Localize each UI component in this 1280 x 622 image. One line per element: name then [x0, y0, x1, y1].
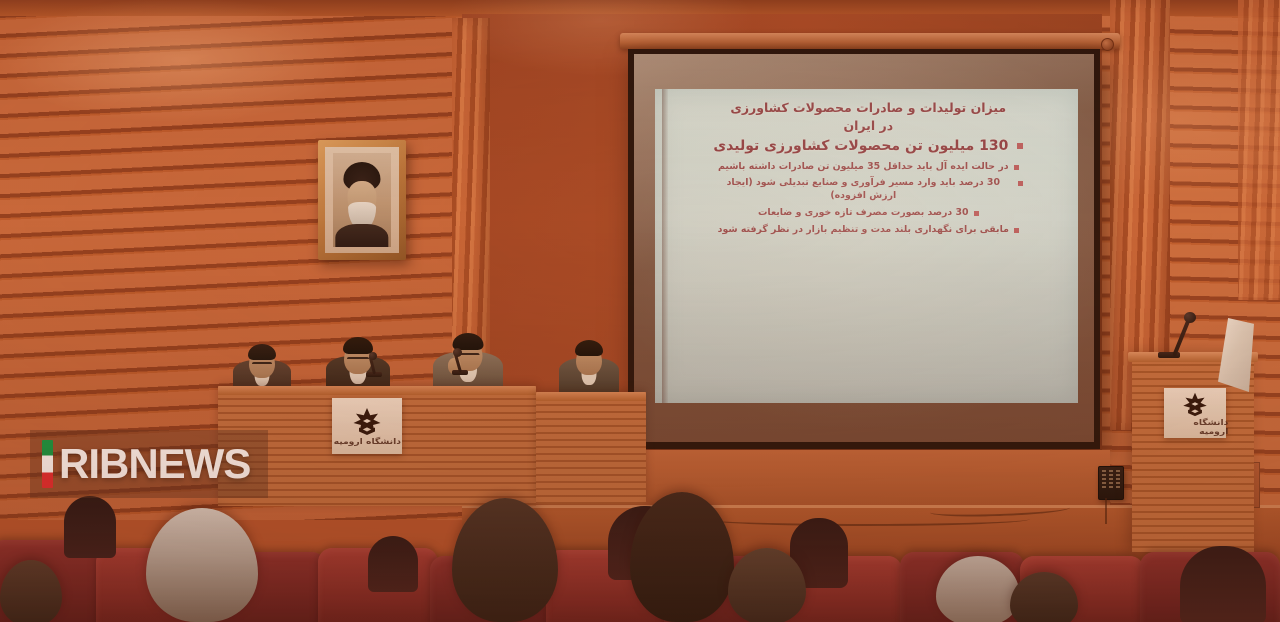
table-microphone-head: [369, 352, 377, 360]
portrait-photo: [333, 153, 391, 247]
framed-portrait: [318, 140, 406, 260]
bullet-square-icon: [974, 211, 979, 216]
audience-seat-back: [64, 496, 116, 558]
lectern-microphone-head: [1184, 312, 1196, 323]
slide-bullet-list: در حالت ایده آل باید حداقل 35 میلیون تن …: [673, 161, 1064, 236]
control-box-readout: [1102, 482, 1120, 484]
hair: [575, 340, 603, 356]
irib-news-watermark: RIBNEWS: [30, 430, 268, 498]
slide-bullet-text: 30 درصد بصورت مصرف تازه خوری و ضایعات: [758, 207, 969, 220]
presentation-slide: میزان تولیدات و صادرات محصولات کشاورزی د…: [655, 89, 1078, 403]
university-name-script: دانشگاه ارومیه: [333, 437, 400, 446]
panel-table-edge: [536, 392, 646, 401]
av-control-box[interactable]: [1098, 466, 1124, 500]
slide-headline: 130 میلیون تن محصولات کشاورزی تولیدی: [673, 137, 1064, 157]
bullet-square-icon: [1018, 181, 1023, 186]
iran-flag-stripe-icon: [42, 440, 53, 488]
panelist-2: [325, 334, 391, 394]
control-box-readout: [1102, 478, 1120, 480]
control-box-readout: [1102, 470, 1120, 472]
slide-title-line1: میزان تولیدات و صادرات محصولات کشاورزی: [673, 99, 1064, 117]
watermark-text: RIBNEWS: [59, 443, 250, 485]
control-box-readout: [1102, 474, 1120, 476]
hair: [343, 337, 373, 354]
bullet-square-icon: [1017, 143, 1023, 149]
panelist-3: [432, 328, 504, 394]
slide-headline-text: 130 میلیون تن محصولات کشاورزی تولیدی: [713, 138, 1008, 154]
screen-surface: میزان تولیدات و صادرات محصولات کشاورزی د…: [634, 54, 1094, 442]
curtain-far-right: [1238, 0, 1280, 300]
robe-shape: [335, 224, 388, 247]
university-emblem-icon: [350, 406, 384, 436]
portrait-mat: [325, 147, 399, 253]
urmia-university-logo: دانشگاه ارومیه: [332, 398, 402, 454]
slide-bullet: در حالت ایده آل باید حداقل 35 میلیون تن …: [673, 161, 1064, 174]
audience-seat-back: [368, 536, 418, 592]
control-box-readout: [1102, 486, 1120, 488]
audience-head: [146, 508, 258, 622]
bullet-square-icon: [1014, 165, 1019, 170]
eyeglasses-icon: [252, 362, 272, 366]
slide-title-line2: در ایران: [673, 117, 1064, 135]
slide-bullet: 30 درصد بصورت مصرف تازه خوری و ضایعات: [673, 207, 1064, 220]
projection-screen: میزان تولیدات و صادرات محصولات کشاورزی د…: [628, 49, 1100, 449]
panel-table-segment: [536, 392, 646, 504]
roller-knob-icon: [1101, 38, 1114, 51]
university-emblem-icon: [1180, 391, 1210, 417]
slide-bullet-text: 30 درصد باید وارد مسیر فرآوری و صنایع تب…: [713, 177, 1013, 202]
bullet-square-icon: [1014, 228, 1019, 233]
table-microphone-head: [453, 348, 462, 357]
conference-hall-photo: میزان تولیدات و صادرات محصولات کشاورزی د…: [0, 0, 1280, 622]
university-name-script: دانشگاه ارومیه: [1162, 418, 1229, 436]
urmia-university-logo: دانشگاه ارومیه: [1164, 388, 1226, 438]
hair: [248, 344, 276, 360]
audience-seat-back: [1180, 546, 1266, 622]
slide-bullet: مابقی برای نگهداری بلند مدت و تنظیم بازا…: [673, 224, 1064, 237]
screen-roller-housing: [620, 33, 1120, 49]
panelist-4: [558, 336, 620, 394]
av-cable-drop: [1105, 498, 1109, 524]
slide-bullet-text: مابقی برای نگهداری بلند مدت و تنظیم بازا…: [718, 224, 1009, 237]
slide-bullet: 30 درصد باید وارد مسیر فرآوری و صنایع تب…: [673, 177, 1064, 202]
slide-bullet-text: در حالت ایده آل باید حداقل 35 میلیون تن …: [718, 161, 1009, 174]
eyeglasses-icon: [347, 357, 369, 361]
panel-table-edge: [218, 386, 536, 395]
